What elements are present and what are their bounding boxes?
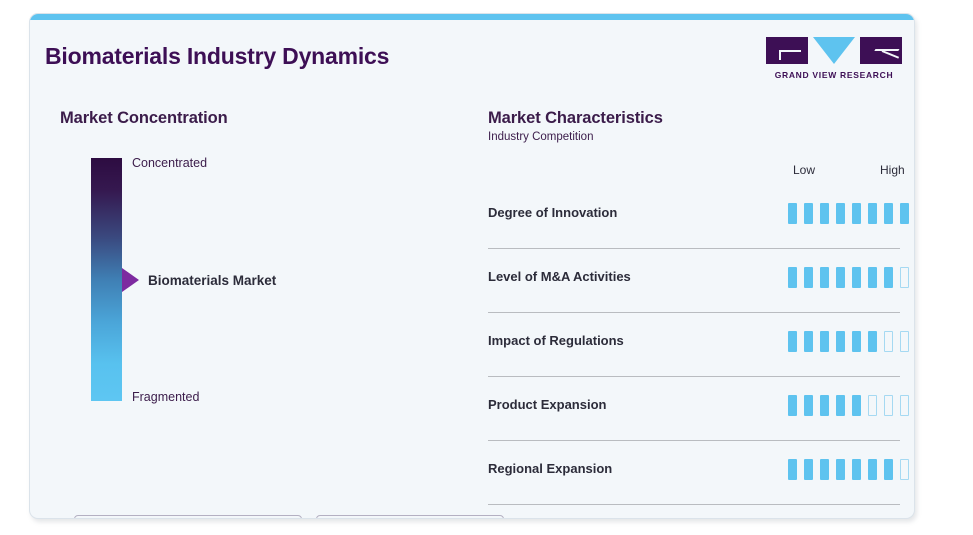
rating-tick-filled [868, 459, 877, 480]
rating-tick-empty [900, 267, 909, 288]
rating-tick-filled [820, 459, 829, 480]
characteristic-rating-bars [788, 395, 915, 416]
rating-tick-filled [868, 267, 877, 288]
logo-v-triangle-icon [813, 37, 855, 64]
rating-tick-filled [868, 203, 877, 224]
rating-tick-empty [884, 395, 893, 416]
rating-tick-filled [788, 395, 797, 416]
market-growth-stage-box: Market Growth Stage High Low | Medium | … [74, 515, 302, 519]
rating-tick-filled [884, 203, 893, 224]
market-concentration-panel: Market Concentration Concentrated Fragme… [60, 109, 480, 401]
marker-label: Biomaterials Market [148, 273, 276, 288]
characteristic-row: Regional Expansion [488, 441, 900, 505]
concentration-top-label: Concentrated [132, 156, 207, 170]
rating-tick-filled [852, 459, 861, 480]
rating-tick-empty [900, 331, 909, 352]
rating-tick-filled [900, 203, 909, 224]
scale-header: Low High [488, 163, 900, 185]
rating-tick-filled [804, 267, 813, 288]
characteristic-label: Regional Expansion [488, 461, 612, 476]
logo-marks [766, 37, 902, 66]
grand-view-research-logo: GRAND VIEW RESEARCH [766, 37, 902, 80]
growth-indicator-boxes: Market Growth Stage High Low | Medium | … [74, 515, 504, 519]
infographic-card: Biomaterials Industry Dynamics GRAND VIE… [29, 13, 915, 519]
characteristic-label: Impact of Regulations [488, 333, 624, 348]
market-characteristics-panel: Market Characteristics Industry Competit… [488, 109, 900, 505]
rating-tick-empty [884, 331, 893, 352]
characteristic-label: Product Expansion [488, 397, 606, 412]
rating-tick-filled [820, 267, 829, 288]
marker-arrow-icon [122, 268, 139, 292]
rating-tick-filled [804, 459, 813, 480]
rating-tick-filled [836, 267, 845, 288]
market-characteristics-heading: Market Characteristics [488, 109, 900, 128]
market-position-marker: Biomaterials Market [122, 268, 276, 292]
logo-r-icon [860, 37, 902, 64]
concentration-scale: Concentrated Fragmented Biomaterials Mar… [60, 158, 480, 401]
characteristic-row: Degree of Innovation [488, 185, 900, 249]
rating-tick-filled [836, 203, 845, 224]
characteristic-label: Degree of Innovation [488, 205, 617, 220]
characteristic-rating-bars [788, 203, 915, 224]
characteristics-rows: Degree of InnovationLevel of M&A Activit… [488, 185, 900, 505]
rating-tick-filled [852, 395, 861, 416]
characteristic-row: Product Expansion [488, 377, 900, 441]
characteristic-row: Level of M&A Activities [488, 249, 900, 313]
rating-tick-filled [884, 459, 893, 480]
card-top-accent-bar [30, 14, 914, 20]
page-title: Biomaterials Industry Dynamics [45, 43, 389, 70]
rating-tick-filled [804, 331, 813, 352]
market-characteristics-subheading: Industry Competition [488, 131, 900, 143]
rating-tick-filled [836, 459, 845, 480]
logo-g-icon [766, 37, 808, 64]
rating-tick-filled [788, 331, 797, 352]
characteristic-row: Impact of Regulations [488, 313, 900, 377]
characteristic-rating-bars [788, 267, 915, 288]
pace-of-market-growth-box: Pace of Market Growth Accelerating Accel… [316, 515, 504, 519]
rating-tick-filled [820, 203, 829, 224]
rating-tick-filled [836, 331, 845, 352]
rating-tick-filled [804, 395, 813, 416]
rating-tick-filled [884, 267, 893, 288]
concentration-bottom-label: Fragmented [132, 390, 199, 404]
rating-tick-filled [852, 203, 861, 224]
rating-tick-filled [820, 395, 829, 416]
scale-high-label: High [880, 163, 905, 177]
rating-tick-filled [788, 459, 797, 480]
scale-low-label: Low [793, 163, 815, 177]
rating-tick-filled [788, 203, 797, 224]
rating-tick-filled [836, 395, 845, 416]
rating-tick-empty [900, 395, 909, 416]
rating-tick-empty [900, 459, 909, 480]
characteristic-rating-bars [788, 331, 915, 352]
rating-tick-filled [868, 331, 877, 352]
screenshot-canvas: Biomaterials Industry Dynamics GRAND VIE… [0, 0, 973, 535]
rating-tick-filled [788, 267, 797, 288]
characteristic-label: Level of M&A Activities [488, 269, 631, 284]
characteristic-rating-bars [788, 459, 915, 480]
market-concentration-heading: Market Concentration [60, 109, 480, 128]
concentration-gradient-bar [91, 158, 122, 401]
rating-tick-filled [852, 331, 861, 352]
rating-tick-empty [868, 395, 877, 416]
rating-tick-filled [820, 331, 829, 352]
rating-tick-filled [804, 203, 813, 224]
logo-wordmark: GRAND VIEW RESEARCH [766, 70, 902, 80]
rating-tick-filled [852, 267, 861, 288]
